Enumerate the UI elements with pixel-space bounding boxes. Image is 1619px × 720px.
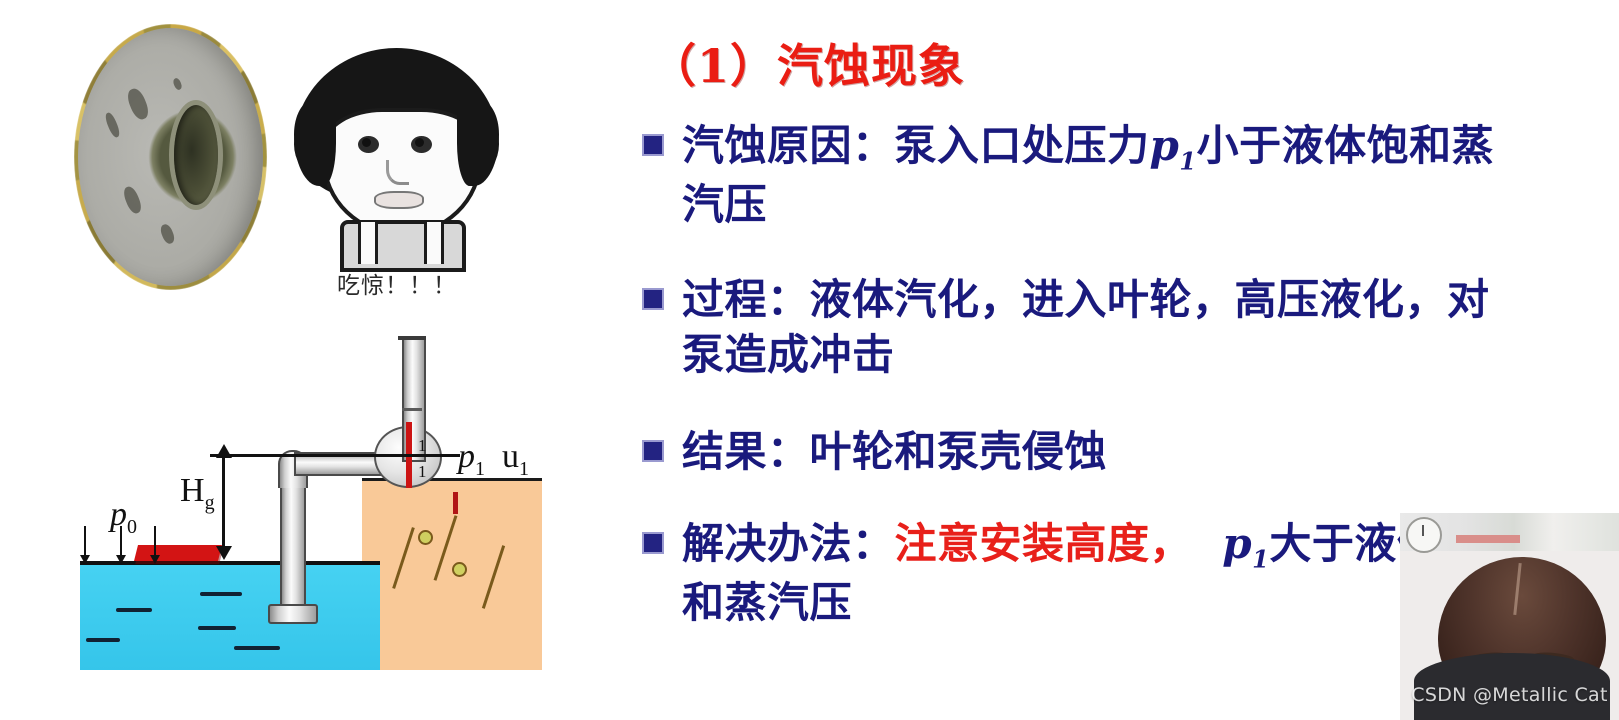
label-p0-symbol: p bbox=[110, 496, 127, 533]
meme-caption: 吃惊！！！ bbox=[282, 266, 512, 300]
slide-canvas: 吃惊！！！ bbox=[0, 0, 1619, 720]
bullet-item-process: 过程：液体汽化，进入叶轮，高压液化，对泵造成冲击 bbox=[642, 272, 1512, 383]
meme-hair-right bbox=[457, 100, 499, 186]
bullet-item-cause: 汽蚀原因：泵入口处压力p1小于液体饱和蒸汽压 bbox=[642, 118, 1512, 233]
liquid-wave bbox=[198, 626, 236, 630]
cavitation-damaged-impeller-photo bbox=[78, 28, 263, 286]
label-u1-subscript: 1 bbox=[519, 458, 529, 480]
label-p1-symbol: p bbox=[458, 438, 475, 475]
impeller-disc bbox=[78, 28, 263, 286]
red-reference-plate bbox=[134, 545, 222, 561]
webcam-overlay[interactable]: CSDN @Metallic Cat bbox=[1400, 513, 1619, 720]
bullet-square-icon bbox=[642, 440, 664, 462]
bullet-square-icon bbox=[642, 134, 664, 156]
bullet-item-solution: 解决办法：注意安装高度， p1大于液体饱和蒸汽压 bbox=[642, 516, 1512, 631]
bullet-text-solution: 解决办法：注意安装高度， p1大于液体饱和蒸汽压 bbox=[682, 516, 1512, 631]
bullet-square-icon bbox=[642, 532, 664, 554]
meme-eye-right bbox=[411, 136, 432, 153]
bullet-solution-symbol: p bbox=[1222, 519, 1252, 568]
ambient-pressure-arrow bbox=[120, 526, 122, 556]
label-hg-subscript: g bbox=[205, 492, 215, 514]
section-label-1: 1 bbox=[418, 462, 427, 482]
suction-pipe-vertical bbox=[280, 480, 306, 614]
bullet-text-result: 结果：叶轮和泵壳侵蚀 bbox=[682, 424, 1107, 479]
ambient-pressure-arrow bbox=[154, 526, 156, 556]
label-p0: p0 bbox=[110, 496, 137, 539]
bullet-cause-subscript: 1 bbox=[1179, 146, 1196, 175]
ambient-pressure-arrow bbox=[84, 526, 86, 556]
watermark-text: CSDN @Metallic Cat bbox=[1400, 684, 1619, 706]
liquid-wave bbox=[234, 646, 280, 650]
pump-foundation-block bbox=[362, 480, 542, 670]
wall-clock-icon bbox=[1406, 517, 1442, 553]
meme-strap-left bbox=[358, 222, 378, 264]
pump-suction-diagram: 1 1 Hg p0 p1 u1 bbox=[62, 330, 562, 670]
label-p1-subscript: 1 bbox=[475, 458, 485, 480]
liquid-wave bbox=[116, 608, 152, 612]
bullet-solution-prefix: 解决办法： bbox=[682, 519, 895, 568]
bullet-cause-symbol: p bbox=[1150, 121, 1180, 170]
label-p0-subscript: 0 bbox=[127, 516, 137, 538]
webcam-background-banner bbox=[1456, 535, 1520, 543]
page-title: （1）汽蚀现象 bbox=[650, 30, 965, 96]
tank-liquid bbox=[80, 564, 380, 670]
suction-lift-arrow bbox=[222, 456, 225, 548]
discharge-pipe-cap bbox=[398, 336, 426, 340]
bullet-text-cause: 汽蚀原因：泵入口处压力p1小于液体饱和蒸汽压 bbox=[682, 118, 1512, 233]
bullet-square-icon bbox=[642, 288, 664, 310]
cavitation-bubble bbox=[452, 562, 467, 577]
meme-strap-right bbox=[424, 222, 444, 264]
meme-hair-left bbox=[294, 100, 336, 186]
left-figure-column: 吃惊！！！ bbox=[0, 0, 600, 720]
meme-eye-left bbox=[358, 136, 379, 153]
liquid-wave bbox=[86, 638, 120, 642]
meme-mouth bbox=[374, 191, 424, 209]
section-label-1: 1 bbox=[418, 436, 427, 456]
label-u1-symbol: u bbox=[502, 438, 519, 475]
foundation-red-tick bbox=[453, 492, 458, 514]
shocked-face-meme: 吃惊！！！ bbox=[282, 48, 512, 263]
bullet-solution-subscript: 1 bbox=[1252, 544, 1269, 573]
label-hg: Hg bbox=[180, 472, 215, 515]
bullet-text-process: 过程：液体汽化，进入叶轮，高压液化，对泵造成冲击 bbox=[682, 272, 1512, 383]
label-hg-symbol: H bbox=[180, 472, 205, 509]
bullet-cause-prefix: 汽蚀原因：泵入口处压力 bbox=[682, 121, 1150, 170]
discharge-pipe-band bbox=[402, 408, 422, 411]
bullet-item-result: 结果：叶轮和泵壳侵蚀 bbox=[642, 424, 1107, 479]
label-p1-u1: p1 u1 bbox=[458, 438, 529, 481]
suction-pipe-foot bbox=[268, 604, 318, 624]
bullet-solution-highlight: 注意安装高度， bbox=[895, 519, 1193, 568]
liquid-wave bbox=[200, 592, 242, 596]
cavitation-bubble bbox=[418, 530, 433, 545]
